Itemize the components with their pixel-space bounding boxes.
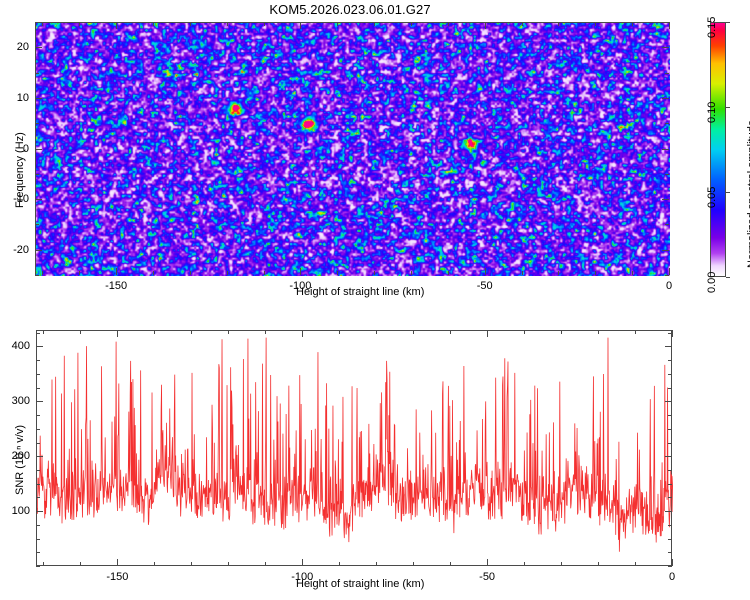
y-minor-tick <box>36 539 40 540</box>
y-major-tick <box>35 199 42 200</box>
y-tick-label: 300 <box>12 395 30 407</box>
y-minor-tick-right <box>668 374 672 375</box>
y-minor-tick <box>36 566 40 567</box>
x-minor-tick <box>411 271 412 275</box>
spectrogram-y-axis-title: Frequency (Hz) <box>14 132 26 208</box>
y-tick-label: 100 <box>12 505 30 517</box>
x-minor-tick <box>42 271 43 275</box>
snr-trace <box>37 331 673 567</box>
x-minor-tick <box>264 271 265 275</box>
colorbar-title: Normalized spectral amplitude <box>746 120 750 268</box>
x-minor-tick <box>154 562 155 566</box>
x-minor-tick-top <box>411 22 412 26</box>
figure-canvas: KOM5.2026.023.06.01.G27 -150-100-500-20-… <box>0 0 750 600</box>
x-minor-tick <box>632 271 633 275</box>
colorbar <box>710 22 726 277</box>
y-major-tick <box>35 47 42 48</box>
x-minor-tick <box>80 562 81 566</box>
y-minor-tick <box>35 123 39 124</box>
x-minor-tick <box>265 562 266 566</box>
x-minor-tick-top <box>80 330 81 334</box>
x-minor-tick <box>339 562 340 566</box>
x-minor-tick <box>190 271 191 275</box>
y-minor-tick-right <box>668 415 672 416</box>
y-minor-tick-right <box>665 22 669 23</box>
x-minor-tick <box>635 562 636 566</box>
colorbar-tick <box>726 107 730 108</box>
x-minor-tick <box>450 562 451 566</box>
y-minor-tick <box>36 360 40 361</box>
y-minor-tick-right <box>668 429 672 430</box>
colorbar-tick <box>726 192 730 193</box>
y-minor-tick-right <box>668 360 672 361</box>
y-minor-tick-right <box>665 275 669 276</box>
x-major-tick <box>300 268 301 275</box>
x-minor-tick-top <box>79 22 80 26</box>
y-minor-tick <box>36 388 40 389</box>
y-major-tick-right <box>662 149 669 150</box>
x-tick-label: 0 <box>666 280 672 292</box>
y-major-tick <box>35 98 42 99</box>
x-major-tick-top <box>300 22 301 29</box>
y-major-tick <box>35 149 42 150</box>
x-major-tick-top <box>302 330 303 337</box>
y-minor-tick <box>36 415 40 416</box>
x-major-tick-top <box>485 22 486 29</box>
y-minor-tick <box>36 374 40 375</box>
snr-panel <box>36 330 672 566</box>
y-major-tick-right <box>662 250 669 251</box>
y-minor-tick-right <box>668 484 672 485</box>
y-major-tick <box>36 511 43 512</box>
x-minor-tick <box>413 562 414 566</box>
y-tick-label: 20 <box>17 41 29 53</box>
x-major-tick <box>302 559 303 566</box>
y-minor-tick-right <box>665 73 669 74</box>
x-minor-tick-top <box>374 22 375 26</box>
x-minor-tick-top <box>339 330 340 334</box>
x-minor-tick <box>598 562 599 566</box>
x-minor-tick <box>43 562 44 566</box>
x-minor-tick <box>522 271 523 275</box>
spectrogram-heatmap <box>36 23 670 276</box>
y-minor-tick-right <box>668 539 672 540</box>
x-minor-tick-top <box>191 330 192 334</box>
y-major-tick-right <box>665 456 672 457</box>
x-minor-tick <box>448 271 449 275</box>
colorbar-tick <box>726 22 730 23</box>
x-major-tick-top <box>672 330 673 337</box>
y-major-tick <box>36 401 43 402</box>
y-minor-tick-right <box>665 224 669 225</box>
x-minor-tick-top <box>43 330 44 334</box>
y-major-tick-right <box>665 511 672 512</box>
x-minor-tick <box>558 271 559 275</box>
x-minor-tick-top <box>337 22 338 26</box>
y-major-tick <box>36 346 43 347</box>
x-minor-tick-top <box>154 330 155 334</box>
y-major-tick-right <box>662 199 669 200</box>
x-minor-tick-top <box>190 22 191 26</box>
x-minor-tick-top <box>598 330 599 334</box>
y-major-tick-right <box>662 47 669 48</box>
x-minor-tick <box>376 562 377 566</box>
x-minor-tick-top <box>595 22 596 26</box>
y-major-tick-right <box>665 346 672 347</box>
spectrogram-x-axis-title: Height of straight line (km) <box>296 286 424 298</box>
x-tick-label: 0 <box>669 571 675 583</box>
x-major-tick-top <box>116 22 117 29</box>
x-minor-tick-top <box>632 22 633 26</box>
x-minor-tick <box>374 271 375 275</box>
y-minor-tick-right <box>668 566 672 567</box>
snr-y-axis-title: SNR (10 ⁿ v/v) <box>14 425 26 495</box>
y-minor-tick <box>35 275 39 276</box>
y-minor-tick-right <box>668 333 672 334</box>
y-minor-tick <box>36 470 40 471</box>
y-minor-tick <box>36 333 40 334</box>
y-minor-tick-right <box>668 470 672 471</box>
x-minor-tick-top <box>522 22 523 26</box>
x-tick-label: -50 <box>477 280 493 292</box>
y-minor-tick-right <box>665 123 669 124</box>
x-major-tick <box>116 268 117 275</box>
x-minor-tick <box>227 271 228 275</box>
y-minor-tick <box>35 224 39 225</box>
x-minor-tick <box>524 562 525 566</box>
y-minor-tick-right <box>665 174 669 175</box>
x-tick-label: -50 <box>479 571 495 583</box>
colorbar-tick-label: 0.10 <box>706 102 718 123</box>
x-minor-tick-top <box>153 22 154 26</box>
snr-x-axis-title: Height of straight line (km) <box>296 578 424 590</box>
x-major-tick <box>669 268 670 275</box>
colorbar-tick <box>726 277 730 278</box>
x-minor-tick <box>561 562 562 566</box>
y-minor-tick <box>36 552 40 553</box>
y-minor-tick <box>35 73 39 74</box>
y-major-tick-right <box>665 401 672 402</box>
x-minor-tick-top <box>561 330 562 334</box>
y-minor-tick-right <box>668 443 672 444</box>
x-minor-tick <box>191 562 192 566</box>
x-minor-tick-top <box>524 330 525 334</box>
x-minor-tick <box>228 562 229 566</box>
colorbar-tick-label: 0.05 <box>706 187 718 208</box>
colorbar-gradient <box>711 23 725 276</box>
y-minor-tick <box>36 497 40 498</box>
colorbar-tick-label: 0.00 <box>706 272 718 293</box>
x-major-tick-top <box>669 22 670 29</box>
x-minor-tick-top <box>635 330 636 334</box>
x-minor-tick-top <box>264 22 265 26</box>
x-minor-tick-top <box>227 22 228 26</box>
x-minor-tick-top <box>376 330 377 334</box>
x-major-tick <box>117 559 118 566</box>
y-minor-tick-right <box>668 552 672 553</box>
x-tick-label: -150 <box>105 280 127 292</box>
x-minor-tick <box>595 271 596 275</box>
y-tick-label: 10 <box>17 92 29 104</box>
y-minor-tick <box>36 484 40 485</box>
x-major-tick <box>485 268 486 275</box>
x-minor-tick-top <box>448 22 449 26</box>
x-minor-tick <box>153 271 154 275</box>
y-major-tick <box>36 456 43 457</box>
spectrogram-panel <box>35 22 669 275</box>
x-minor-tick-top <box>413 330 414 334</box>
figure-title: KOM5.2026.023.06.01.G27 <box>0 2 700 17</box>
y-minor-tick <box>36 525 40 526</box>
y-tick-label: -20 <box>13 244 29 256</box>
y-minor-tick-right <box>668 525 672 526</box>
y-minor-tick <box>35 22 39 23</box>
x-minor-tick-top <box>558 22 559 26</box>
x-minor-tick-top <box>450 330 451 334</box>
x-major-tick-top <box>117 330 118 337</box>
y-minor-tick-right <box>668 388 672 389</box>
x-minor-tick <box>337 271 338 275</box>
x-major-tick <box>672 559 673 566</box>
y-tick-label: 400 <box>12 340 30 352</box>
y-minor-tick <box>35 174 39 175</box>
colorbar-tick-label: 0.15 <box>706 17 718 38</box>
x-minor-tick <box>79 271 80 275</box>
y-major-tick <box>35 250 42 251</box>
y-minor-tick <box>36 443 40 444</box>
y-minor-tick <box>36 429 40 430</box>
y-major-tick-right <box>662 98 669 99</box>
x-minor-tick-top <box>228 330 229 334</box>
x-major-tick-top <box>487 330 488 337</box>
x-tick-label: -150 <box>106 571 128 583</box>
x-minor-tick-top <box>265 330 266 334</box>
y-minor-tick-right <box>668 497 672 498</box>
snr-polyline <box>37 338 673 552</box>
x-minor-tick-top <box>42 22 43 26</box>
x-major-tick <box>487 559 488 566</box>
